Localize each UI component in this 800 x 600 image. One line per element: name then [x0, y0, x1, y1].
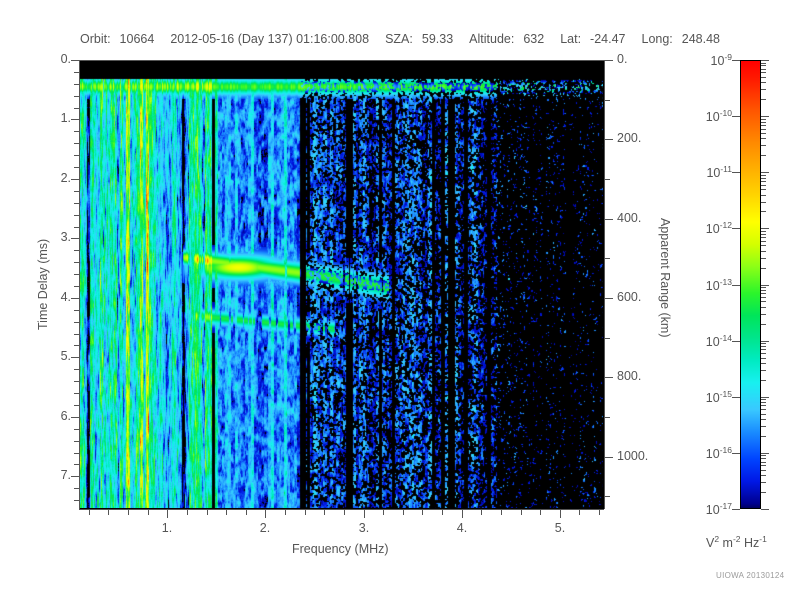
y-axis-left-title: Time Delay (ms) — [36, 239, 50, 330]
colorbar-tick-minor — [761, 402, 766, 403]
colorbar-tick-label: 10-14 — [682, 333, 732, 349]
colorbar-tick-minor — [761, 65, 766, 66]
y-tick-minor — [74, 155, 79, 156]
y-tick-minor — [74, 286, 79, 287]
y-tick-minor — [74, 429, 79, 430]
colorbar-tick-minor — [761, 482, 766, 483]
y-tick-label: 5. — [31, 349, 71, 363]
y-tick-major — [71, 476, 79, 477]
x-tick-minor — [540, 510, 541, 515]
y2-tick-minor — [605, 100, 610, 101]
x-tick-minor — [285, 510, 286, 515]
colorbar-tick-minor — [761, 363, 766, 364]
colorbar-tick-minor — [761, 455, 766, 456]
colorbar-gradient — [740, 60, 761, 509]
y-tick-major — [71, 298, 79, 299]
long-label: Long: — [642, 32, 673, 46]
colorbar-tick-minor — [761, 211, 766, 212]
colorbar-tick-minor — [761, 202, 766, 203]
y-tick-minor — [74, 334, 79, 335]
colorbar-tick-minor — [761, 436, 766, 437]
colorbar-tick-major — [761, 228, 769, 229]
orbit-value: 10664 — [120, 32, 155, 46]
colorbar-tick-minor — [761, 185, 766, 186]
colorbar-tick-minor — [761, 268, 766, 269]
colorbar-tick-minor — [761, 380, 766, 381]
colorbar-tick-minor — [761, 89, 766, 90]
y-tick-major — [71, 238, 79, 239]
y-tick-minor — [74, 84, 79, 85]
x-tick-minor — [207, 510, 208, 515]
y-tick-minor — [74, 262, 79, 263]
y-tick-major — [71, 417, 79, 418]
lat-label: Lat: — [560, 32, 581, 46]
colorbar-tick-minor — [761, 145, 766, 146]
x-tick-minor — [344, 510, 345, 515]
y-tick-minor — [74, 453, 79, 454]
y2-tick-minor — [605, 258, 610, 259]
altitude-value: 632 — [523, 32, 544, 46]
y-tick-minor — [74, 322, 79, 323]
colorbar-tick-minor — [761, 414, 766, 415]
x-tick-minor — [599, 510, 600, 515]
y-tick-minor — [74, 369, 79, 370]
colorbar-tick-label: 10-9 — [682, 52, 732, 68]
colorbar-tick-minor — [761, 314, 766, 315]
y-tick-minor — [74, 274, 79, 275]
y-tick-minor — [74, 464, 79, 465]
y2-tick-label: 800. — [617, 369, 641, 383]
x-axis-bottom-line — [79, 509, 604, 510]
colorbar-tick-label: 10-15 — [682, 389, 732, 405]
y-tick-minor — [74, 250, 79, 251]
x-tick-minor — [305, 510, 306, 515]
colorbar-tick-label: 10-16 — [682, 445, 732, 461]
x-tick-minor — [226, 510, 227, 515]
x-tick-label: 5. — [540, 521, 580, 535]
colorbar-tick-minor — [761, 129, 766, 130]
x-tick-label: 4. — [442, 521, 482, 535]
colorbar-tick-minor — [761, 77, 766, 78]
colorbar-units-label: V2 m-2 Hz-1 — [706, 534, 767, 550]
x-tick-label: 2. — [245, 521, 285, 535]
colorbar-tick-major-left — [732, 341, 740, 342]
colorbar-tick-major — [761, 509, 769, 510]
y-tick-minor — [74, 488, 79, 489]
colorbar-tick-minor — [761, 293, 766, 294]
colorbar-tick-minor — [761, 82, 766, 83]
x-tick-minor — [128, 510, 129, 515]
colorbar-tick-minor — [761, 370, 766, 371]
y-tick-minor — [74, 215, 79, 216]
colorbar-tick-minor — [761, 138, 766, 139]
watermark-credit: UIOWA 20130124 — [716, 571, 784, 580]
y-tick-minor — [74, 227, 79, 228]
colorbar-tick-minor — [761, 349, 766, 350]
colorbar-tick-minor — [761, 119, 766, 120]
colorbar-tick-minor — [761, 251, 766, 252]
colorbar-tick-minor — [761, 133, 766, 134]
y2-tick-major — [605, 139, 613, 140]
x-tick-minor — [442, 510, 443, 515]
colorbar-tick-major-left — [732, 116, 740, 117]
y-tick-label: 6. — [31, 409, 71, 423]
y-tick-minor — [74, 310, 79, 311]
altitude-label: Altitude: — [469, 32, 514, 46]
x-tick-label: 3. — [344, 521, 384, 535]
colorbar-tick-minor — [761, 234, 766, 235]
colorbar-tick-minor — [761, 241, 766, 242]
x-tick-major — [560, 510, 561, 518]
y2-tick-minor — [605, 338, 610, 339]
colorbar-tick-minor — [761, 181, 766, 182]
colorbar-tick-minor — [761, 72, 766, 73]
colorbar-tick-major — [761, 172, 769, 173]
y-axis-left-line — [79, 60, 80, 509]
long-value: 248.48 — [682, 32, 720, 46]
x-tick-minor — [501, 510, 502, 515]
colorbar-tick-major — [761, 341, 769, 342]
y-tick-major — [71, 119, 79, 120]
y-axis-right-line — [604, 60, 605, 509]
y-tick-minor — [74, 345, 79, 346]
y-tick-label: 0. — [31, 52, 71, 66]
colorbar-tick-minor — [761, 470, 766, 471]
y2-tick-minor — [605, 496, 610, 497]
colorbar-tick-minor — [761, 237, 766, 238]
colorbar-tick-major-left — [732, 172, 740, 173]
x-tick-minor — [246, 510, 247, 515]
colorbar-tick-label: 10-11 — [682, 164, 732, 180]
header-info-bar: Orbit:10664 2012-05-16 (Day 137) 01:16:0… — [0, 30, 800, 48]
colorbar-tick-minor — [761, 405, 766, 406]
colorbar-tick-minor — [761, 475, 766, 476]
x-tick-minor — [383, 510, 384, 515]
y2-tick-major — [605, 60, 613, 61]
colorbar-tick-label: 10-10 — [682, 108, 732, 124]
colorbar-tick-minor — [761, 465, 766, 466]
colorbar-tick-minor — [761, 122, 766, 123]
colorbar-tick-major-left — [732, 60, 740, 61]
colorbar-tick-minor — [761, 343, 766, 344]
orbit-label: Orbit: — [80, 32, 111, 46]
y-tick-minor — [74, 108, 79, 109]
y-tick-minor — [74, 405, 79, 406]
colorbar-tick-major-left — [732, 285, 740, 286]
y-tick-label: 1. — [31, 111, 71, 125]
colorbar-tick-minor — [761, 426, 766, 427]
x-tick-major — [462, 510, 463, 518]
y2-tick-major — [605, 457, 613, 458]
y2-tick-major — [605, 377, 613, 378]
colorbar-tick-minor — [761, 307, 766, 308]
colorbar-tick-minor — [761, 399, 766, 400]
x-tick-minor — [422, 510, 423, 515]
y-tick-major — [71, 179, 79, 180]
y-tick-minor — [74, 191, 79, 192]
y2-tick-label: 0. — [617, 52, 627, 66]
colorbar-tick-minor — [761, 69, 766, 70]
colorbar-tick-minor — [761, 287, 766, 288]
x-tick-minor — [148, 510, 149, 515]
colorbar-tick-label: 10-13 — [682, 277, 732, 293]
y-tick-minor — [74, 381, 79, 382]
colorbar-tick-major — [761, 453, 769, 454]
y-tick-minor — [74, 500, 79, 501]
y-axis-right-title: Apparent Range (km) — [658, 218, 672, 338]
colorbar-tick-minor — [761, 346, 766, 347]
y2-tick-label: 1000. — [617, 449, 648, 463]
y-tick-minor — [74, 441, 79, 442]
x-tick-minor — [579, 510, 580, 515]
x-tick-minor — [108, 510, 109, 515]
colorbar-tick-major — [761, 60, 769, 61]
y2-tick-label: 400. — [617, 211, 641, 225]
y2-tick-minor — [605, 179, 610, 180]
y-tick-minor — [74, 143, 79, 144]
x-tick-minor — [403, 510, 404, 515]
x-tick-major — [265, 510, 266, 518]
colorbar-tick-minor — [761, 358, 766, 359]
lat-value: -24.47 — [590, 32, 625, 46]
colorbar-tick-major-left — [732, 228, 740, 229]
sza-label: SZA: — [385, 32, 413, 46]
x-axis-top-line — [79, 60, 604, 61]
colorbar-tick-minor — [761, 245, 766, 246]
colorbar-tick-minor — [761, 99, 766, 100]
colorbar-tick-minor — [761, 301, 766, 302]
sza-value: 59.33 — [422, 32, 453, 46]
colorbar-tick-minor — [761, 324, 766, 325]
x-tick-minor — [481, 510, 482, 515]
y-tick-label: 7. — [31, 468, 71, 482]
colorbar-tick-minor — [761, 458, 766, 459]
colorbar-tick-major-left — [732, 397, 740, 398]
y-tick-minor — [74, 393, 79, 394]
colorbar-tick-minor — [761, 297, 766, 298]
colorbar-tick-major — [761, 116, 769, 117]
y-tick-major — [71, 357, 79, 358]
x-tick-minor — [324, 510, 325, 515]
colorbar-tick-minor — [761, 155, 766, 156]
y2-tick-label: 200. — [617, 131, 641, 145]
colorbar-tick-minor — [761, 178, 766, 179]
y2-tick-minor — [605, 417, 610, 418]
x-tick-minor — [187, 510, 188, 515]
y-tick-major — [71, 60, 79, 61]
observation-datetime: 2012-05-16 (Day 137) 01:16:00.808 — [170, 32, 369, 46]
y-tick-minor — [74, 167, 79, 168]
colorbar-tick-minor — [761, 353, 766, 354]
y-tick-minor — [74, 203, 79, 204]
colorbar-tick-minor — [761, 409, 766, 410]
x-tick-minor — [521, 510, 522, 515]
colorbar-tick-minor — [761, 125, 766, 126]
colorbar-tick-minor — [761, 175, 766, 176]
y2-tick-major — [605, 298, 613, 299]
y-tick-minor — [74, 72, 79, 73]
ionogram-heatmap-canvas — [80, 61, 604, 509]
x-tick-label: 1. — [147, 521, 187, 535]
x-tick-major — [364, 510, 365, 518]
y-tick-label: 2. — [31, 171, 71, 185]
colorbar-tick-minor — [761, 419, 766, 420]
y-tick-minor — [74, 96, 79, 97]
colorbar-tick-major — [761, 285, 769, 286]
colorbar-tick-minor — [761, 189, 766, 190]
colorbar-tick-minor — [761, 195, 766, 196]
colorbar-tick-minor — [761, 231, 766, 232]
x-axis-title: Frequency (MHz) — [292, 542, 389, 556]
colorbar-tick-label: 10-12 — [682, 220, 732, 236]
colorbar-tick-minor — [761, 258, 766, 259]
colorbar-tick-minor — [761, 63, 766, 64]
x-tick-minor — [89, 510, 90, 515]
y-tick-minor — [74, 131, 79, 132]
colorbar-tick-minor — [761, 492, 766, 493]
colorbar-tick-major — [761, 397, 769, 398]
ionogram-plot-area — [79, 60, 604, 509]
y2-tick-major — [605, 219, 613, 220]
colorbar-tick-label: 10-17 — [682, 501, 732, 517]
colorbar-tick-minor — [761, 290, 766, 291]
colorbar-tick-minor — [761, 462, 766, 463]
colorbar-tick-major-left — [732, 453, 740, 454]
x-tick-major — [167, 510, 168, 518]
y2-tick-label: 600. — [617, 290, 641, 304]
colorbar-tick-major-left — [732, 509, 740, 510]
